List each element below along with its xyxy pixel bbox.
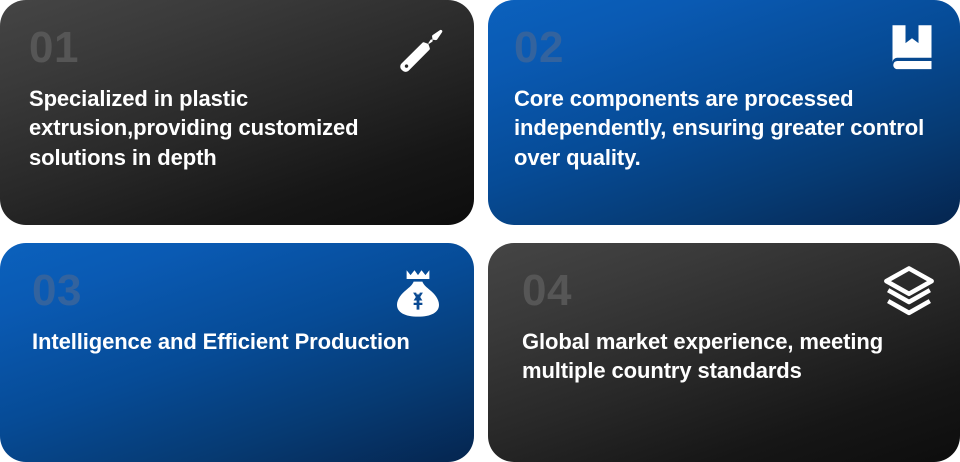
card-text: Core components are processed independen… <box>514 84 930 172</box>
card-number: 02 <box>514 26 930 70</box>
feature-card-03[interactable]: 03 Intelligence and Efficient Production <box>0 243 474 462</box>
card-number: 03 <box>32 269 444 313</box>
feature-card-04[interactable]: 04 Global market experience, meeting mul… <box>488 243 960 462</box>
card-number: 01 <box>29 26 444 70</box>
card-text: Global market experience, meeting multip… <box>522 327 930 386</box>
layers-stack-icon <box>880 263 938 321</box>
card-number: 04 <box>522 269 930 313</box>
money-bag-yen-icon <box>390 265 446 321</box>
feature-card-grid: 01 Specialized in plastic extrusion,prov… <box>0 0 960 459</box>
card-text: Intelligence and Efficient Production <box>32 327 444 356</box>
feature-card-01[interactable]: 01 Specialized in plastic extrusion,prov… <box>0 0 474 225</box>
card-text: Specialized in plastic extrusion,providi… <box>29 84 444 172</box>
wrench-icon <box>394 22 450 78</box>
feature-card-02[interactable]: 02 Core components are processed indepen… <box>488 0 960 225</box>
book-bookmark-icon <box>886 22 938 74</box>
